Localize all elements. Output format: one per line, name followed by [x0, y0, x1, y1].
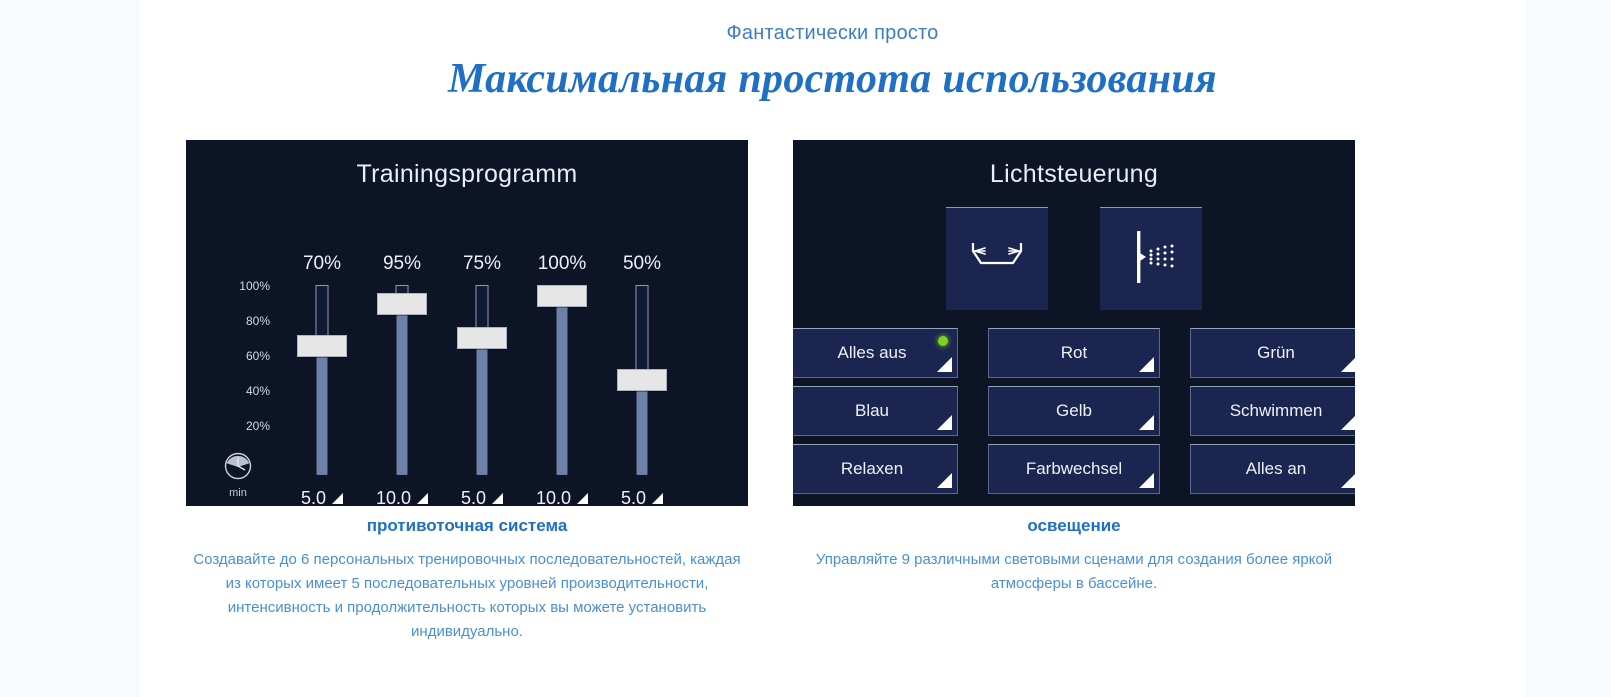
slider-track[interactable]	[436, 285, 528, 475]
duration-field[interactable]: 10.0	[516, 485, 608, 506]
pool-jets-icon	[965, 233, 1029, 286]
dropdown-triangle-icon[interactable]	[652, 493, 663, 504]
clock-icon	[212, 451, 264, 486]
duration-field[interactable]: 5.0	[276, 485, 368, 506]
light-caption: освещение Управляйте 9 различными светов…	[793, 516, 1355, 596]
scene-button-label: Schwimmen	[1230, 401, 1323, 421]
scene-button-alles-aus[interactable]: Alles aus	[793, 328, 958, 378]
scene-button-label: Blau	[855, 401, 889, 421]
wall-jet-tile[interactable]	[1100, 207, 1202, 310]
axis-tick: 60%	[208, 351, 270, 386]
slider-column: 70%5.01	[276, 253, 368, 506]
slider-track-empty	[636, 285, 649, 380]
duration-field[interactable]: 10.0	[356, 485, 448, 506]
training-program-panel: Trainingsprogramm 100% 80% 60% 40% 20%	[186, 140, 748, 506]
axis-tick: 100%	[208, 281, 270, 316]
slider-handle[interactable]	[537, 285, 587, 307]
slider-track-fill	[637, 380, 648, 475]
axis-tick: 80%	[208, 316, 270, 351]
corner-triangle-icon	[1341, 415, 1355, 430]
duration-indicator: min	[212, 451, 264, 499]
corner-triangle-icon	[1139, 357, 1154, 372]
slider-area: 100% 80% 60% 40% 20% min 70%5.0195%10.0	[186, 189, 748, 489]
slider-track-fill	[557, 296, 568, 475]
slider-percent-label: 100%	[516, 253, 608, 277]
wall-jet-spray-icon	[1119, 225, 1183, 294]
slider-track[interactable]	[276, 285, 368, 475]
duration-value: 10.0	[376, 488, 411, 507]
slider-column: 50%5.05	[596, 253, 688, 506]
training-caption-text: Создавайте до 6 персональных тренировочн…	[186, 548, 748, 644]
axis-tick: 40%	[208, 386, 270, 421]
page-heading: Фантастически просто Максимальная просто…	[140, 0, 1525, 103]
duration-field[interactable]: 5.0	[596, 485, 688, 506]
scene-button-rot[interactable]: Rot	[988, 328, 1160, 378]
icon-tile-row	[793, 207, 1355, 310]
light-panel-title: Lichtsteuerung	[793, 160, 1355, 189]
scene-button-label: Grün	[1257, 343, 1295, 363]
slider-percent-label: 75%	[436, 253, 528, 277]
scene-button-alles-an[interactable]: Alles an	[1190, 444, 1355, 494]
scene-button-label: Alles aus	[838, 343, 907, 363]
eyebrow-text: Фантастически просто	[140, 22, 1525, 45]
scene-button-relaxen[interactable]: Relaxen	[793, 444, 958, 494]
slider-track[interactable]	[596, 285, 688, 475]
duration-value: 5.0	[621, 488, 646, 507]
training-caption-title: противоточная система	[186, 516, 748, 536]
slider-percent-label: 70%	[276, 253, 368, 277]
slider-handle[interactable]	[377, 293, 427, 315]
slider-track[interactable]	[356, 285, 448, 475]
corner-triangle-icon	[1341, 473, 1355, 488]
light-caption-text: Управляйте 9 различными световыми сценам…	[793, 548, 1355, 596]
dropdown-triangle-icon[interactable]	[417, 493, 428, 504]
light-control-panel: Lichtsteuerung	[793, 140, 1355, 506]
pool-jets-tile[interactable]	[946, 207, 1048, 310]
scene-button-label: Farbwechsel	[1026, 459, 1122, 479]
slider-handle[interactable]	[457, 327, 507, 349]
training-caption: противоточная система Создавайте до 6 пе…	[186, 516, 748, 644]
scene-button-label: Rot	[1061, 343, 1087, 363]
training-panel-title: Trainingsprogramm	[186, 160, 748, 189]
duration-value: 5.0	[461, 488, 486, 507]
corner-triangle-icon	[937, 415, 952, 430]
corner-triangle-icon	[1341, 357, 1355, 372]
scene-button-schwimmen[interactable]: Schwimmen	[1190, 386, 1355, 436]
light-caption-title: освещение	[793, 516, 1355, 536]
slider-handle[interactable]	[297, 335, 347, 357]
scene-button-farbwechsel[interactable]: Farbwechsel	[988, 444, 1160, 494]
slider-track-fill	[317, 346, 328, 475]
duration-field[interactable]: 5.0	[436, 485, 528, 506]
slider-column: 75%5.03	[436, 253, 528, 506]
slider-track[interactable]	[516, 285, 608, 475]
percent-axis: 100% 80% 60% 40% 20%	[208, 281, 270, 456]
slider-track-fill	[397, 304, 408, 475]
scene-button-blau[interactable]: Blau	[793, 386, 958, 436]
page-canvas: Фантастически просто Максимальная просто…	[140, 0, 1525, 697]
scene-button-label: Relaxen	[841, 459, 903, 479]
scene-button-label: Alles an	[1246, 459, 1306, 479]
corner-triangle-icon	[1139, 415, 1154, 430]
slider-handle[interactable]	[617, 369, 667, 391]
dropdown-triangle-icon[interactable]	[332, 493, 343, 504]
dropdown-triangle-icon[interactable]	[577, 493, 588, 504]
page-title: Максимальная простота использования	[140, 55, 1525, 103]
scene-button-label: Gelb	[1056, 401, 1092, 421]
dropdown-triangle-icon[interactable]	[492, 493, 503, 504]
active-led-indicator	[938, 336, 948, 346]
scene-button-gelb[interactable]: Gelb	[988, 386, 1160, 436]
clock-unit-label: min	[212, 487, 264, 499]
scene-button-grün[interactable]: Grün	[1190, 328, 1355, 378]
slider-percent-label: 50%	[596, 253, 688, 277]
corner-triangle-icon	[937, 357, 952, 372]
slider-column: 100%10.04	[516, 253, 608, 506]
slider-column: 95%10.02	[356, 253, 448, 506]
corner-triangle-icon	[937, 473, 952, 488]
duration-value: 5.0	[301, 488, 326, 507]
light-scene-grid: Alles ausRotGrünBlauGelbSchwimmenRelaxen…	[793, 328, 1355, 494]
corner-triangle-icon	[1139, 473, 1154, 488]
slider-percent-label: 95%	[356, 253, 448, 277]
slider-track-fill	[477, 338, 488, 475]
duration-value: 10.0	[536, 488, 571, 507]
